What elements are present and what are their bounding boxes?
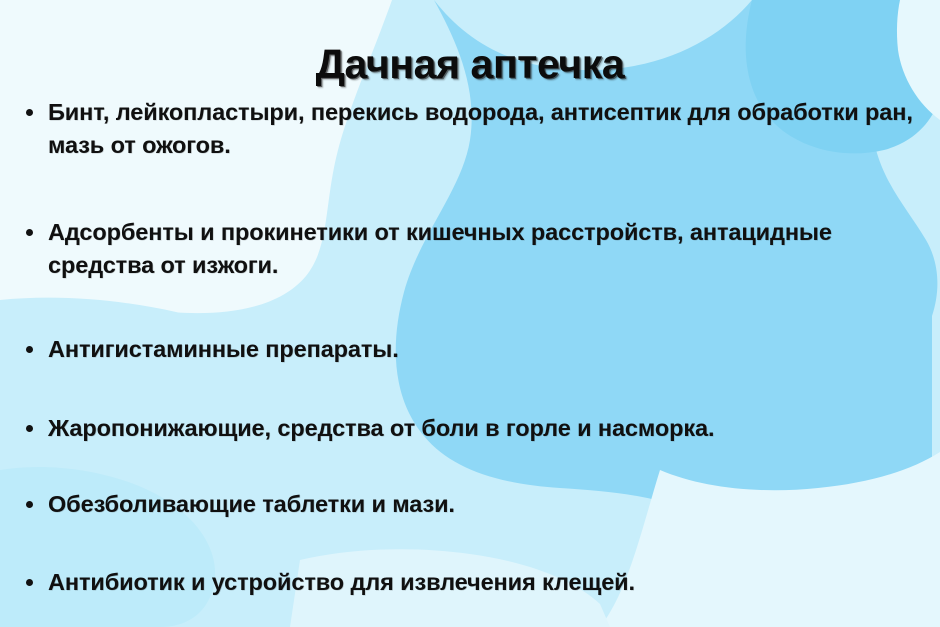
- page-title: Дачная аптечка: [0, 41, 940, 88]
- list-item: Антигистаминные препараты.: [14, 333, 399, 366]
- list-item: Антибиотик и устройство для извлечения к…: [14, 566, 635, 599]
- bullet-dot-icon: [26, 109, 33, 116]
- list-item-label: Адсорбенты и прокинетики от кишечных рас…: [48, 216, 932, 282]
- list-item: Адсорбенты и прокинетики от кишечных рас…: [14, 216, 932, 282]
- list-item: Бинт, лейкопластыри, перекись водорода, …: [14, 96, 932, 162]
- slide-content: Дачная аптечка Бинт, лейкопластыри, пере…: [0, 0, 940, 627]
- list-item-label: Антигистаминные препараты.: [48, 333, 399, 366]
- bullet-dot-icon: [26, 229, 33, 236]
- bullet-dot-icon: [26, 501, 33, 508]
- bullet-dot-icon: [26, 425, 33, 432]
- bullet-dot-icon: [26, 579, 33, 586]
- list-item: Обезболивающие таблетки и мази.: [14, 488, 455, 521]
- list-item-label: Обезболивающие таблетки и мази.: [48, 488, 455, 521]
- bullet-dot-icon: [26, 346, 33, 353]
- list-item-label: Антибиотик и устройство для извлечения к…: [48, 566, 635, 599]
- list-item-label: Бинт, лейкопластыри, перекись водорода, …: [48, 96, 932, 162]
- slide-canvas: Дачная аптечка Бинт, лейкопластыри, пере…: [0, 0, 940, 627]
- list-item: Жаропонижающие, средства от боли в горле…: [14, 412, 714, 445]
- list-item-label: Жаропонижающие, средства от боли в горле…: [48, 412, 714, 445]
